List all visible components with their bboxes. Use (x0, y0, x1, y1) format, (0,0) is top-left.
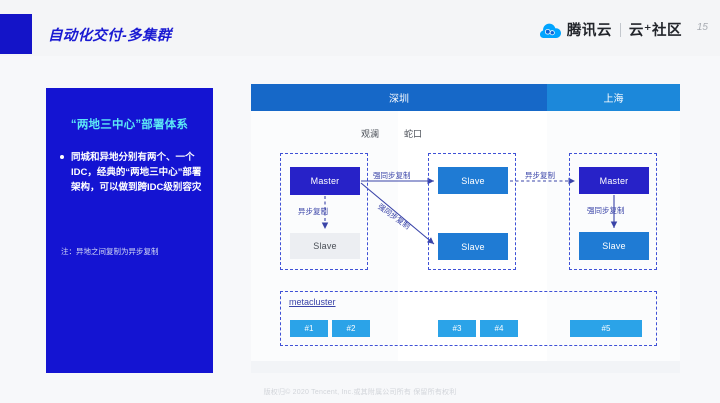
diagram-body: 观澜 蛇口 M (251, 111, 680, 361)
metacluster-title: metacluster (289, 297, 336, 307)
metacluster-box-5[interactable]: #5 (570, 320, 642, 337)
brand-sub-label: 云⁺社区 (629, 19, 682, 40)
metacluster-box-3[interactable]: #3 (438, 320, 476, 337)
node-guanlan-master[interactable]: Master (290, 167, 360, 195)
bullet-dot-icon (60, 155, 64, 159)
edge-label-shanghai-sync: 强同步复制 (587, 205, 625, 216)
edge-label-guanlan-async: 异步复制 (298, 206, 328, 217)
header-accent-bar (0, 14, 32, 54)
region-header-shanghai: 上海 (547, 84, 680, 111)
node-guanlan-slave[interactable]: Slave (290, 233, 360, 259)
edge-label-async-right: 异步复制 (525, 170, 555, 181)
node-shanghai-slave[interactable]: Slave (579, 232, 649, 260)
copyright-footer: 版权归© 2020 Tencent, Inc.或其附属公司所有 保留所有权利 (0, 387, 720, 397)
brand-name-label: 腾讯云 (567, 19, 612, 40)
metacluster-box-4[interactable]: #4 (480, 320, 518, 337)
region-header-shenzhen: 深圳 (251, 84, 547, 111)
node-shekou-slave-2[interactable]: Slave (438, 233, 508, 260)
slide-header: 自动化交付-多集群 腾讯云 云⁺社区 15 (0, 0, 720, 56)
metacluster-group: metacluster #1 #2 #3 #4 #5 (280, 291, 657, 346)
brand-divider (620, 23, 621, 37)
page-title: 自动化交付-多集群 (48, 24, 172, 45)
node-shekou-slave-1[interactable]: Slave (438, 167, 508, 194)
brand-logo: 腾讯云 云⁺社区 (539, 19, 682, 40)
summary-panel-title: “两地三中心”部署体系 (46, 116, 213, 132)
idc-label-guanlan: 观澜 (361, 127, 379, 140)
edge-label-sync-top: 强同步复制 (373, 170, 411, 181)
idc-label-shekou: 蛇口 (404, 127, 422, 140)
tencent-cloud-icon (539, 22, 561, 38)
summary-panel: “两地三中心”部署体系 同城和异地分别有两个、一个IDC，经典的“两地三中心”部… (46, 88, 213, 373)
summary-bullet-text: 同城和异地分别有两个、一个IDC，经典的“两地三中心”部署架构，可以做到跨IDC… (71, 150, 202, 195)
metacluster-box-2[interactable]: #2 (332, 320, 370, 337)
page-number: 15 (697, 22, 708, 33)
summary-note: 注：异地之间复制为异步复制 (61, 246, 206, 258)
architecture-diagram: 深圳 上海 观澜 蛇口 (251, 84, 680, 373)
node-shanghai-master[interactable]: Master (579, 167, 649, 194)
summary-bullet-item: 同城和异地分别有两个、一个IDC，经典的“两地三中心”部署架构，可以做到跨IDC… (60, 150, 202, 195)
metacluster-box-1[interactable]: #1 (290, 320, 328, 337)
region-header-bar: 深圳 上海 (251, 84, 680, 111)
